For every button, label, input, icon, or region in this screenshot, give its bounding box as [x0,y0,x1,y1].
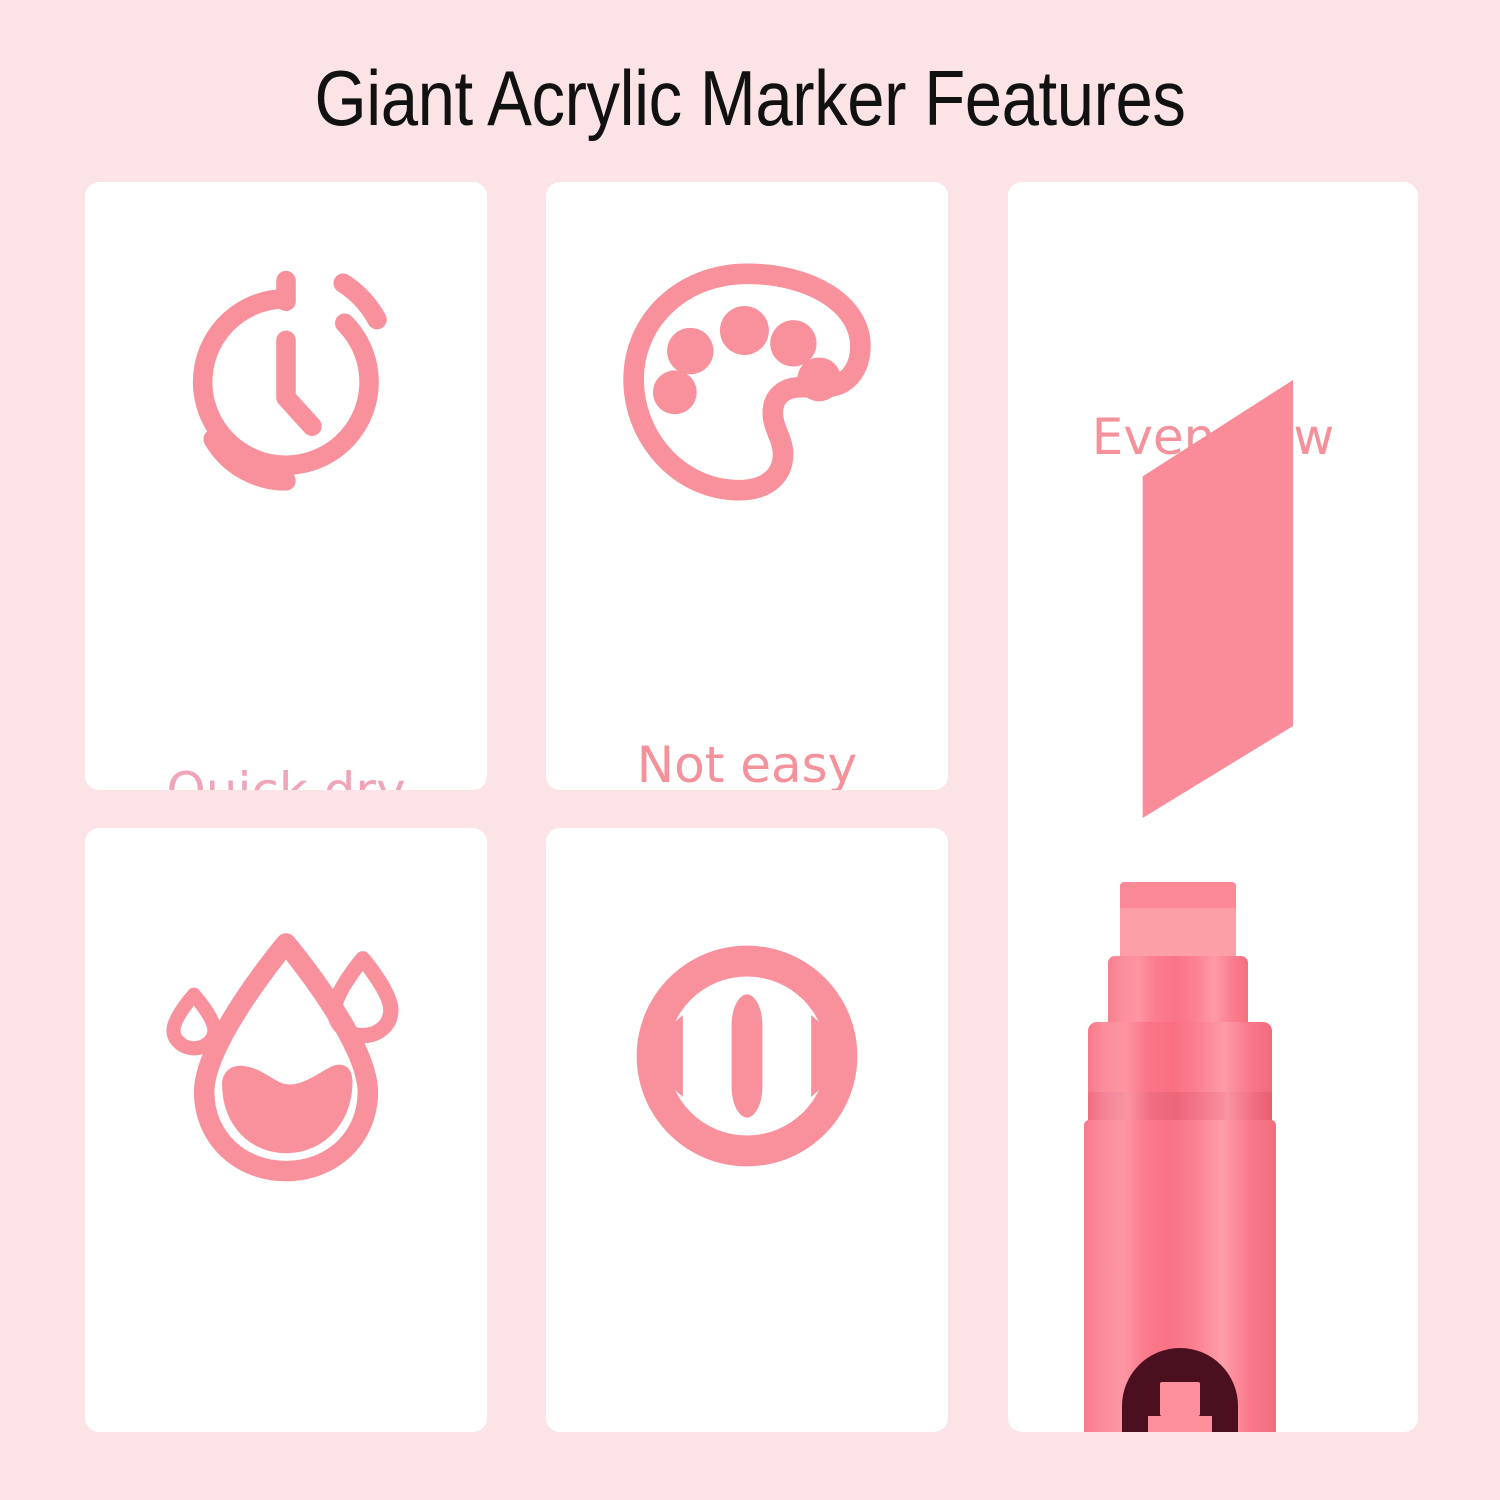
marker-chisel-nib [1120,882,1236,960]
infographic-page: Giant Acrylic Marker Features Quick dry [0,0,1500,1500]
marker-badge-window [1160,1382,1200,1416]
stopwatch-icon [85,232,487,532]
feature-card-waterproof: Waterproof [85,828,487,1432]
feature-card-reversible-tip: Reversible tip [546,828,948,1432]
showcase-card-even-flow: Even flow [1008,182,1418,1432]
feature-label-not-easy-to-fade: Not easy to fade [546,734,948,790]
water-drop-icon [85,906,487,1206]
page-title: Giant Acrylic Marker Features [105,52,1395,144]
marker-collar-upper [1108,956,1248,1028]
feature-card-not-easy-to-fade: Not easy to fade [546,182,948,790]
feature-label-quick-dry: Quick dry [85,760,487,790]
paint-palette-icon [546,232,948,532]
reverse-arrows-icon [546,906,948,1206]
feature-card-quick-dry: Quick dry [85,182,487,790]
marker-collar-middle [1088,1022,1272,1098]
acrylic-marker-pen [1008,882,1418,1432]
marker-badge-base [1148,1416,1212,1432]
